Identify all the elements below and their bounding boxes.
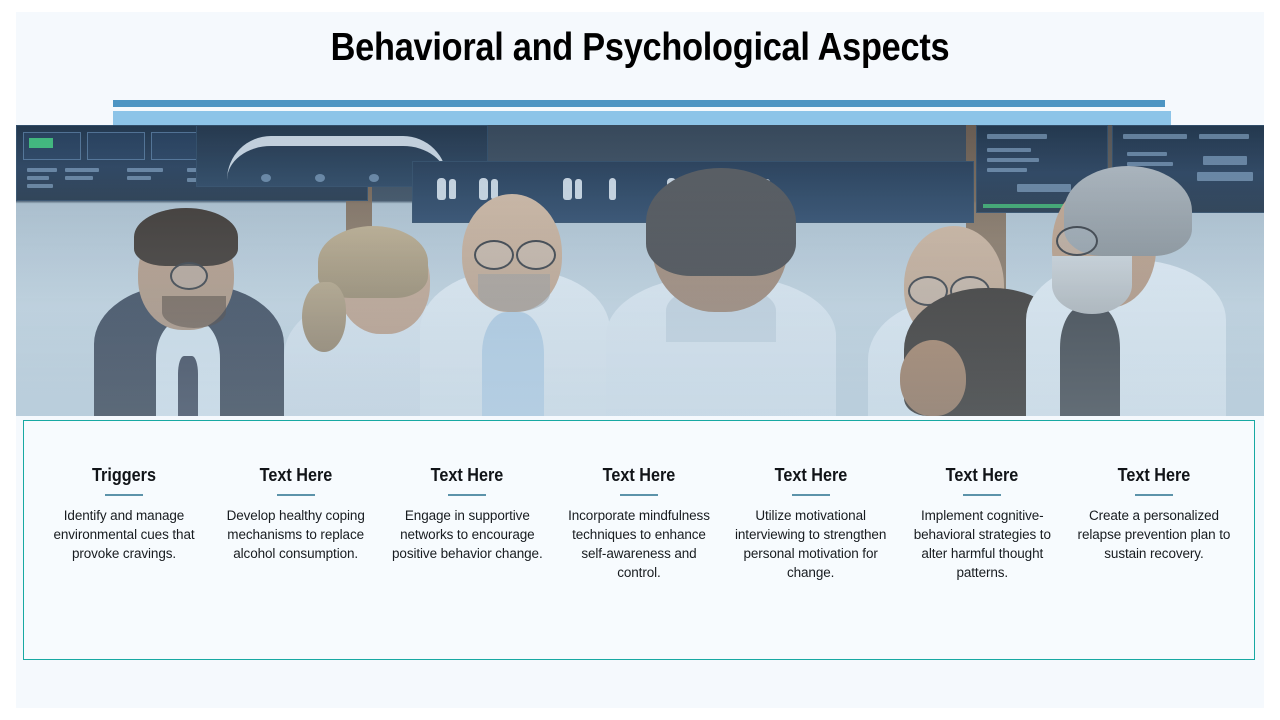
card-title: Text Here: [224, 465, 368, 485]
hero-photo: [16, 125, 1264, 416]
card-title: Triggers: [52, 465, 196, 485]
photo-haze-overlay: [16, 125, 1264, 416]
card-divider: [277, 494, 315, 496]
card-3[interactable]: Text Here Engage in supportive networks …: [387, 465, 547, 563]
card-4[interactable]: Text Here Incorporate mindfulness techni…: [559, 465, 719, 582]
cards-row: Triggers Identify and manage environment…: [24, 421, 1254, 582]
card-divider: [620, 494, 658, 496]
card-divider: [1135, 494, 1173, 496]
card-text: Implement cognitive-behavioral strategie…: [902, 506, 1062, 582]
card-6[interactable]: Text Here Implement cognitive-behavioral…: [902, 465, 1062, 582]
card-text: Incorporate mindfulness techniques to en…: [559, 506, 719, 582]
card-text: Utilize motivational interviewing to str…: [731, 506, 891, 582]
card-title: Text Here: [567, 465, 711, 485]
card-text: Identify and manage environmental cues t…: [44, 506, 204, 563]
card-2[interactable]: Text Here Develop healthy coping mechani…: [216, 465, 376, 563]
card-divider: [105, 494, 143, 496]
card-text: Engage in supportive networks to encoura…: [387, 506, 547, 563]
card-1[interactable]: Triggers Identify and manage environment…: [44, 465, 204, 563]
cards-container: Triggers Identify and manage environment…: [23, 420, 1255, 660]
page-title: Behavioral and Psychological Aspects: [91, 24, 1189, 72]
card-title: Text Here: [1082, 465, 1226, 485]
card-divider: [792, 494, 830, 496]
card-title: Text Here: [910, 465, 1054, 485]
photo-scene: [16, 125, 1264, 416]
card-5[interactable]: Text Here Utilize motivational interview…: [731, 465, 891, 582]
card-title: Text Here: [739, 465, 883, 485]
card-title: Text Here: [395, 465, 539, 485]
card-text: Create a personalized relapse prevention…: [1074, 506, 1234, 563]
card-7[interactable]: Text Here Create a personalized relapse …: [1074, 465, 1234, 563]
card-divider: [963, 494, 1001, 496]
slide-canvas: Behavioral and Psychological Aspects: [16, 12, 1264, 708]
title-accent-bar-dark: [113, 100, 1165, 107]
card-divider: [448, 494, 486, 496]
card-text: Develop healthy coping mechanisms to rep…: [216, 506, 376, 563]
